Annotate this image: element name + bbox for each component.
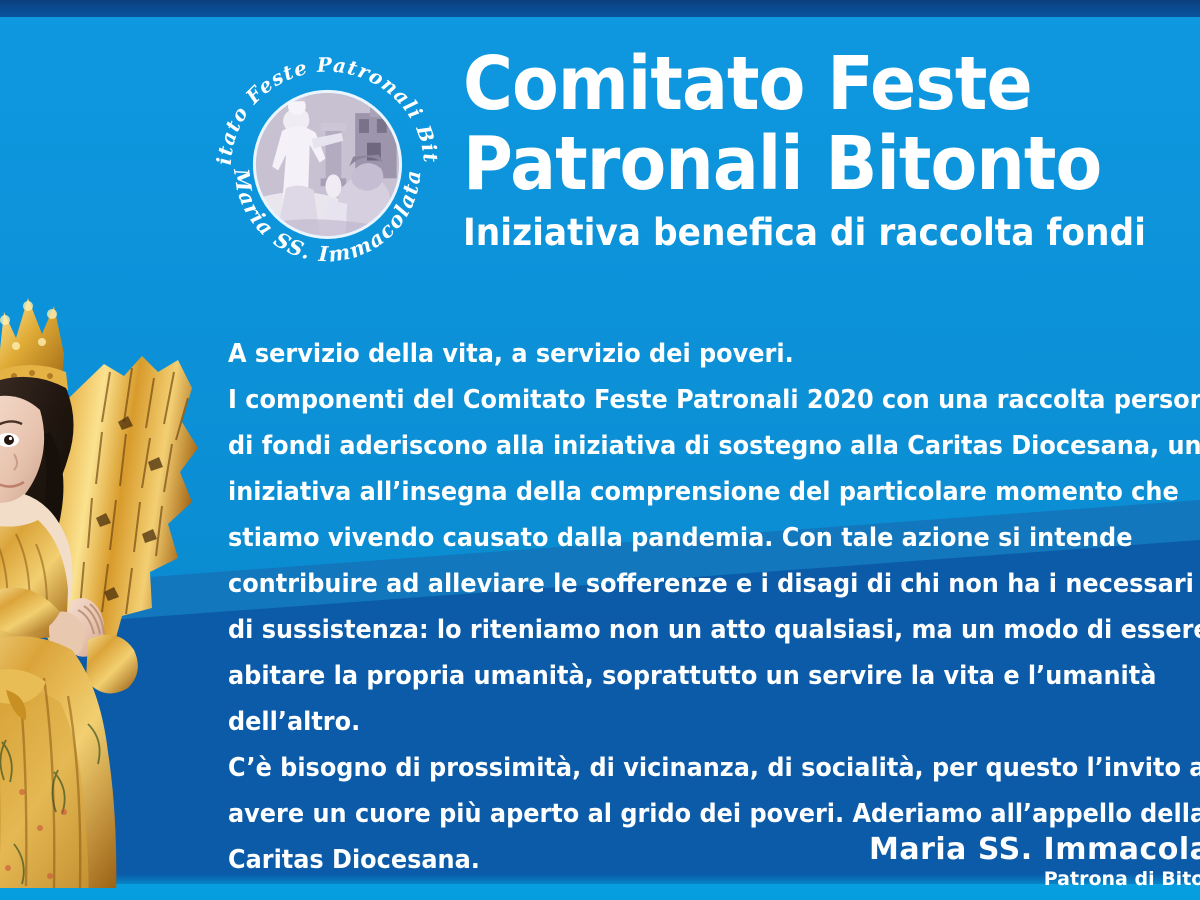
signature-name: Maria SS. Immacolata <box>869 833 1200 867</box>
committee-logo: Comitato Feste Patronali Bitonto Maria S… <box>209 44 446 281</box>
body-text-block: A servizio della vita, a servizio dei po… <box>228 331 1200 883</box>
header-title-block: Comitato Feste Patronali Bitonto Iniziat… <box>463 44 1200 256</box>
body-line: I componenti del Comitato Feste Patronal… <box>228 377 1177 423</box>
body-line: di fondi aderiscono alla iniziativa di s… <box>228 423 1177 469</box>
background-top-strip <box>0 0 1200 17</box>
body-line: di sussistenza: lo riteniamo non un atto… <box>228 607 1177 653</box>
page-title-line-2: Patronali Bitonto <box>463 124 1199 204</box>
body-line: dell’altro. <box>228 699 1177 745</box>
body-line: abitare la propria umanità, soprattutto … <box>228 653 1177 699</box>
body-line: stiamo vivendo causato dalla pandemia. C… <box>228 515 1177 561</box>
signature-block: Maria SS. Immacolata Patrona di Bitonto <box>869 833 1200 890</box>
poster-canvas: Comitato Feste Patronali Bitonto Maria S… <box>0 0 1200 900</box>
body-line: avere un cuore più aperto al grido dei p… <box>228 791 1177 837</box>
body-line: C’è bisogno di prossimità, di vicinanza,… <box>228 745 1177 791</box>
body-line: A servizio della vita, a servizio dei po… <box>228 331 1177 377</box>
virgin-mary-statue-image <box>0 272 207 888</box>
page-subtitle: Iniziativa benefica di raccolta fondi <box>463 210 1200 256</box>
page-title-line-1: Comitato Feste <box>463 44 1199 124</box>
body-line: iniziativa all’insegna della comprension… <box>228 469 1177 515</box>
signature-role: Patrona di Bitonto <box>869 868 1200 890</box>
body-line: contribuire ad alleviare le sofferenze e… <box>228 561 1177 607</box>
